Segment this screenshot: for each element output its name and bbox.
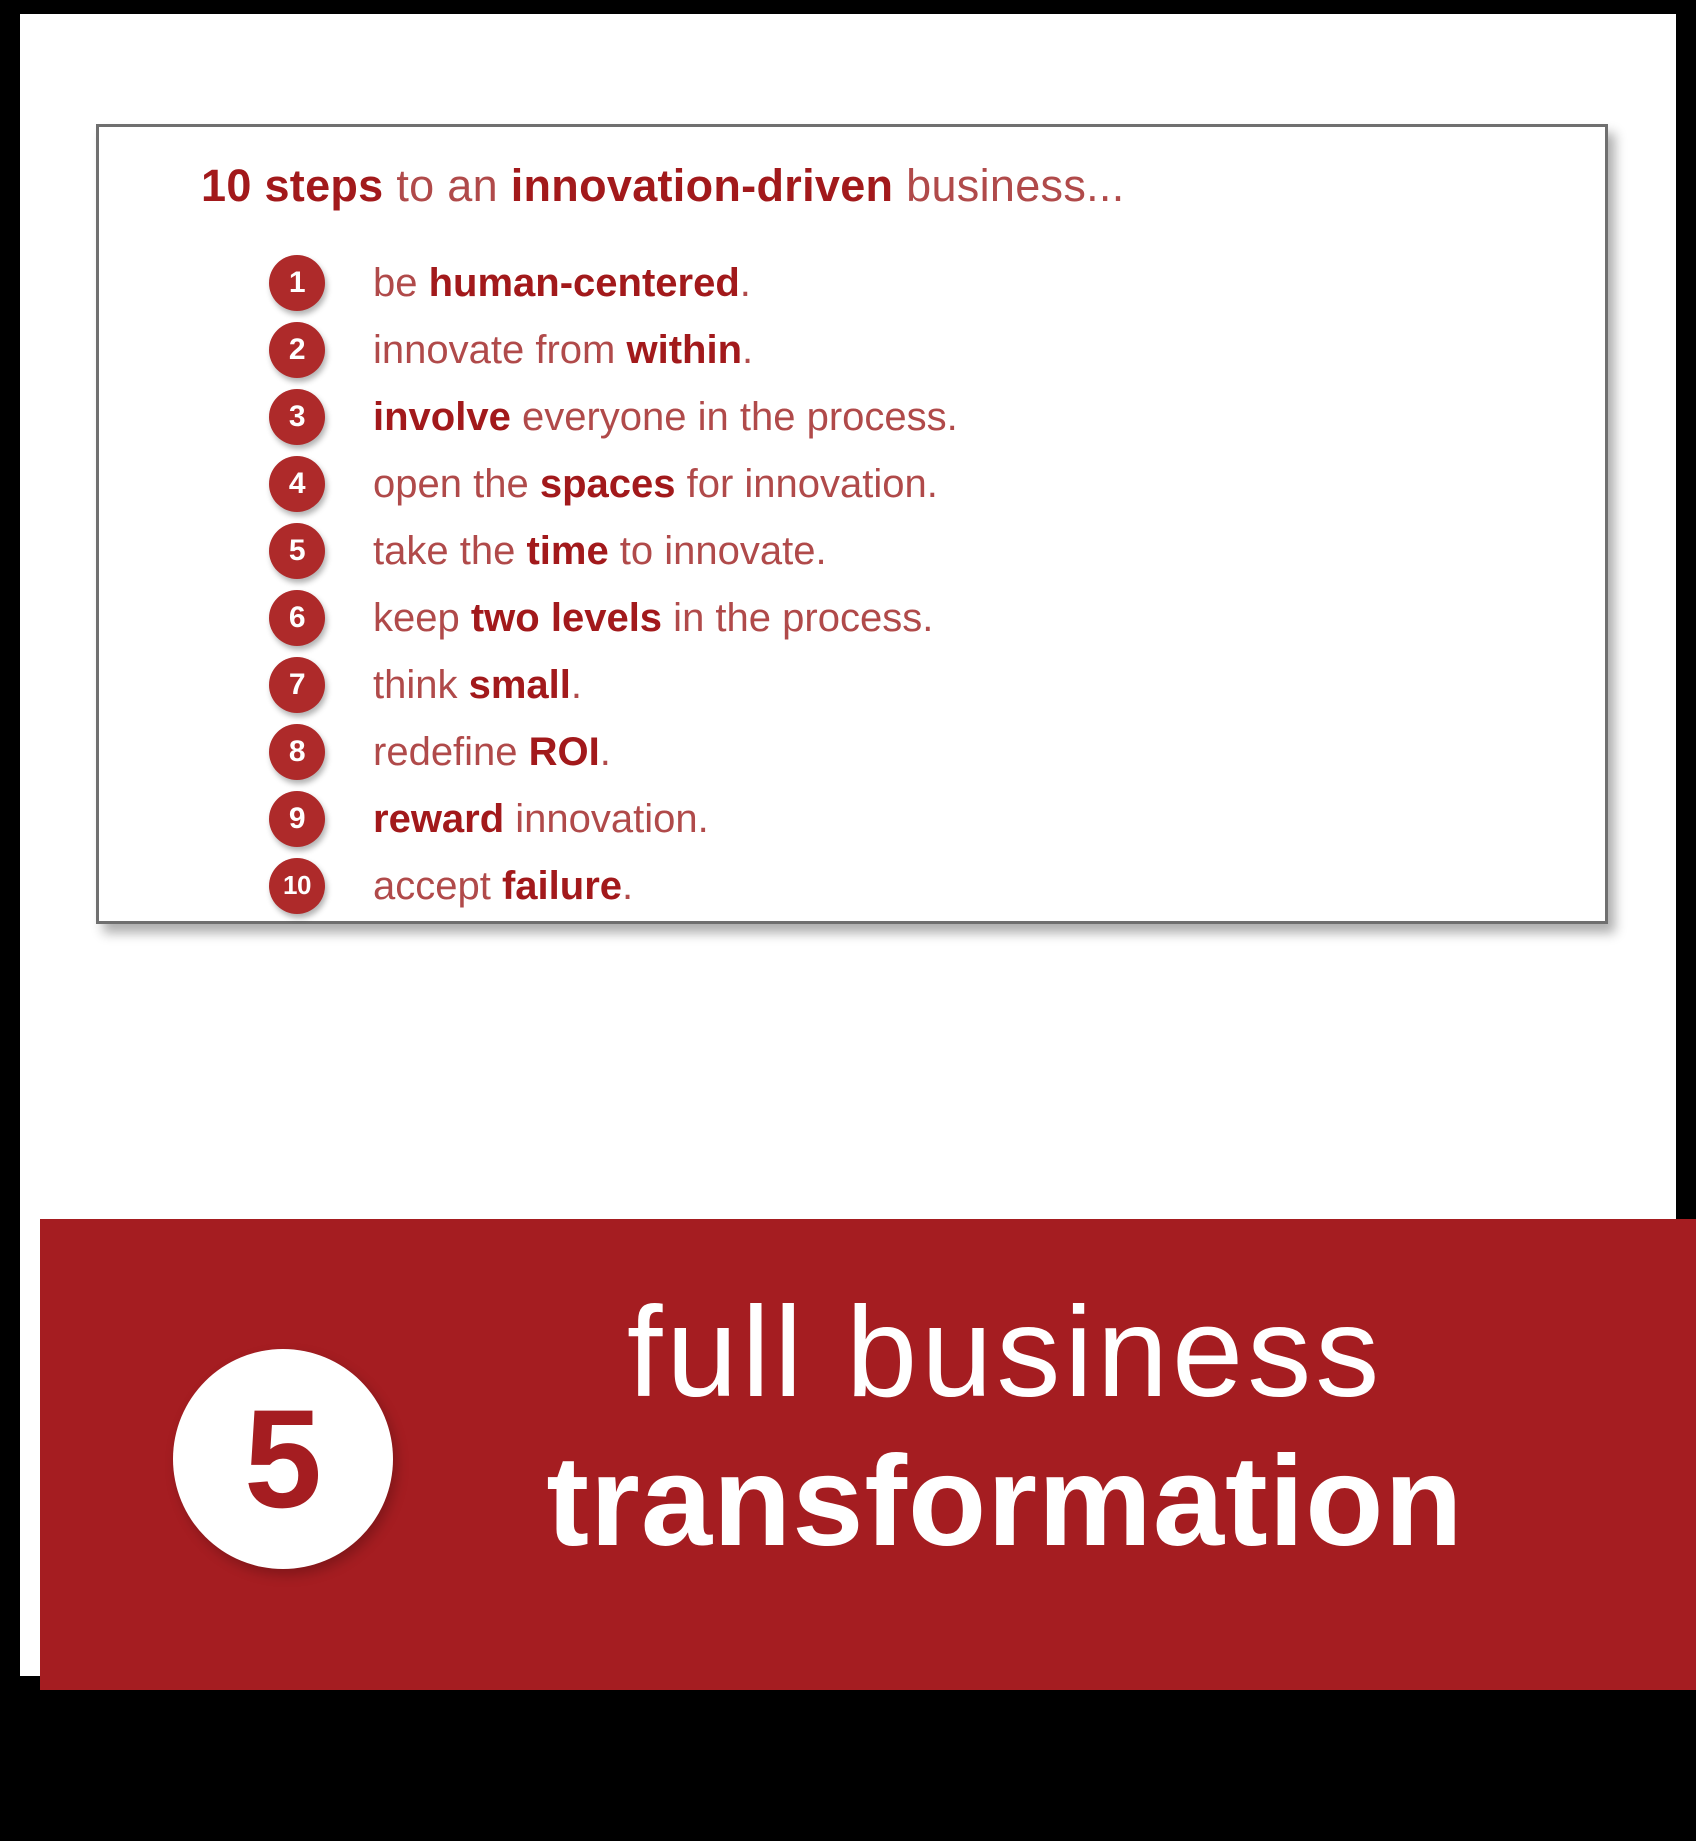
step-7-run-0: think [373,663,469,707]
step-10-run-2: . [622,864,633,908]
step-row: 1be human-centered. [269,249,1569,316]
step-row: 5take the time to innovate. [269,517,1569,584]
step-9-run-1: innovation. [504,797,709,841]
step-number-badge: 5 [269,523,325,579]
step-row: 6keep two levels in the process. [269,584,1569,651]
step-text: be human-centered. [373,263,751,303]
step-text: keep two levels in the process. [373,598,933,638]
step-text: accept failure. [373,866,633,906]
step-4-run-0: open the [373,462,540,506]
step-3-run-1: everyone in the process. [511,395,958,439]
banner-section-number: 5 [173,1349,393,1569]
step-10-run-0: accept [373,864,502,908]
card-title-run-3: business... [906,160,1124,211]
banner-heading-line-1: full business [440,1277,1570,1428]
step-row: 7think small. [269,651,1569,718]
step-number-badge: 9 [269,791,325,847]
step-text: think small. [373,665,582,705]
step-3-run-0: involve [373,395,511,439]
card-title-run-2: innovation-driven [511,160,906,211]
step-text: innovate from within. [373,330,753,370]
card-title-run-1: to an [396,160,510,211]
step-number-badge: 4 [269,456,325,512]
step-4-run-1: spaces [540,462,676,506]
step-5-run-2: to innovate. [609,529,827,573]
step-5-run-0: take the [373,529,526,573]
step-6-run-0: keep [373,596,471,640]
step-number-badge: 10 [269,858,325,914]
step-10-run-1: failure [502,864,622,908]
step-text: open the spaces for innovation. [373,464,938,504]
banner-heading-line-2: transformation [440,1428,1570,1575]
step-2-run-0: innovate from [373,328,626,372]
step-number-badge: 6 [269,590,325,646]
step-row: 2innovate from within. [269,316,1569,383]
step-8-run-0: redefine [373,730,529,774]
slide-canvas: 10 steps to an innovation-driven busines… [20,14,1676,1676]
steps-list: 1be human-centered.2innovate from within… [269,249,1569,919]
step-2-run-1: within [626,328,742,372]
step-5-run-1: time [526,529,608,573]
step-1-run-0: be [373,261,429,305]
step-4-run-2: for innovation. [676,462,938,506]
step-6-run-2: in the process. [662,596,933,640]
step-1-run-1: human-centered [429,261,740,305]
step-number-badge: 7 [269,657,325,713]
step-row: 9reward innovation. [269,785,1569,852]
card-title: 10 steps to an innovation-driven busines… [201,163,1125,208]
step-number-badge: 3 [269,389,325,445]
step-text: take the time to innovate. [373,531,827,571]
step-8-run-1: ROI [529,730,600,774]
step-7-run-1: small [469,663,571,707]
step-text: redefine ROI. [373,732,611,772]
step-text: involve everyone in the process. [373,397,958,437]
step-row: 10accept failure. [269,852,1569,919]
step-row: 8redefine ROI. [269,718,1569,785]
steps-card: 10 steps to an innovation-driven busines… [96,124,1608,924]
step-number-badge: 8 [269,724,325,780]
step-number-badge: 2 [269,322,325,378]
step-9-run-0: reward [373,797,504,841]
step-number-badge: 1 [269,255,325,311]
card-title-run-0: 10 steps [201,160,396,211]
step-6-run-1: two levels [471,596,662,640]
step-2-run-2: . [742,328,753,372]
step-1-run-2: . [740,261,751,305]
outer-frame: 10 steps to an innovation-driven busines… [0,0,1696,1841]
step-row: 3involve everyone in the process. [269,383,1569,450]
step-row: 4open the spaces for innovation. [269,450,1569,517]
step-8-run-2: . [600,730,611,774]
banner-heading: full business transformation [440,1277,1570,1575]
section-banner: 5 full business transformation [40,1219,1696,1690]
step-7-run-2: . [571,663,582,707]
step-text: reward innovation. [373,799,709,839]
